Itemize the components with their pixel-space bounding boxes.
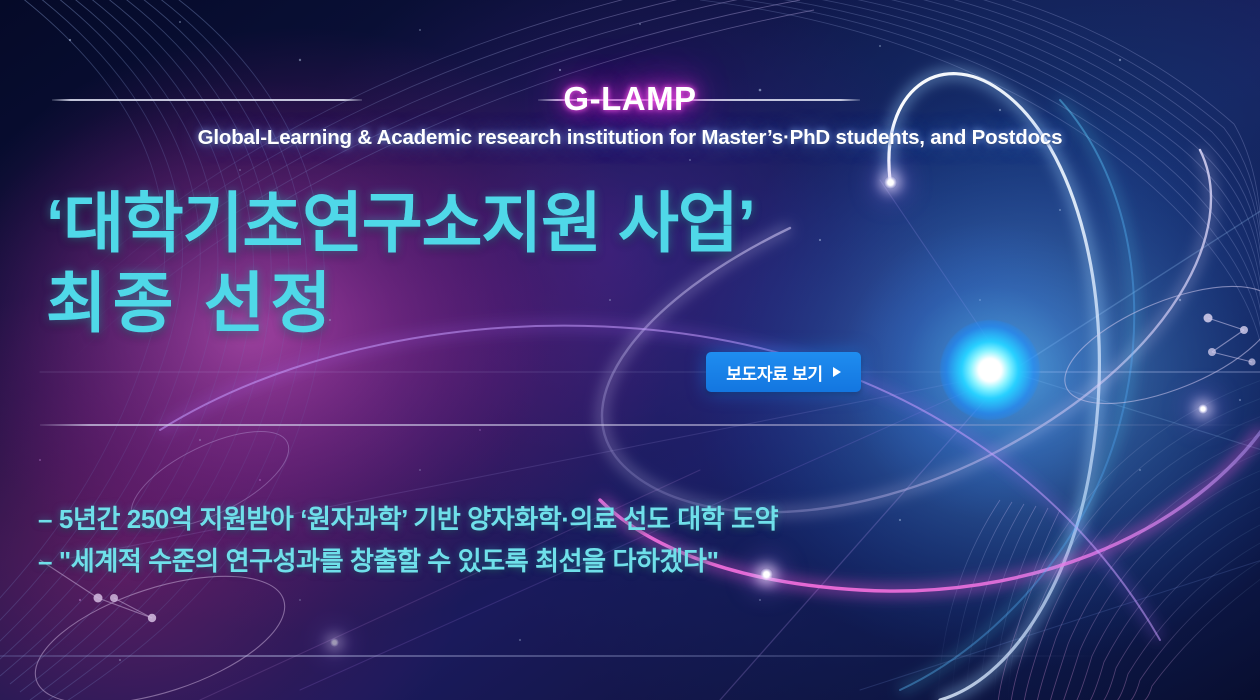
- play-arrow-icon: [833, 367, 841, 377]
- press-release-button[interactable]: 보도자료 보기: [706, 352, 861, 392]
- bullet-list: – 5년간 250억 지원받아 ‘원자과학’ 기반 양자화학·의료 선도 대학 …: [38, 498, 938, 582]
- brand-logo: G-LAMP: [0, 80, 1260, 118]
- orbit-particle: [1198, 404, 1208, 414]
- orbit-particle: [330, 638, 339, 647]
- headline-line-2: 최종 선정: [46, 270, 946, 338]
- press-release-button-label: 보도자료 보기: [726, 360, 822, 385]
- brand-subtitle: Global-Learning & Academic research inst…: [0, 126, 1260, 150]
- divider-middle: [40, 424, 1260, 426]
- orbit-particle: [884, 176, 897, 189]
- divider-bottom: [0, 655, 1100, 657]
- bullet-item: – 5년간 250억 지원받아 ‘원자과학’ 기반 양자화학·의료 선도 대학 …: [38, 498, 938, 540]
- promo-banner: G-LAMP Global-Learning & Academic resear…: [0, 0, 1260, 700]
- headline-line-1: ‘대학기초연구소지원 사업’: [46, 190, 946, 258]
- bullet-item: – "세계적 수준의 연구성과를 창출할 수 있도록 최선을 다하겠다": [38, 540, 938, 582]
- headline-block: ‘대학기초연구소지원 사업’ 최종 선정: [46, 190, 946, 338]
- nucleus-icon: [940, 320, 1040, 420]
